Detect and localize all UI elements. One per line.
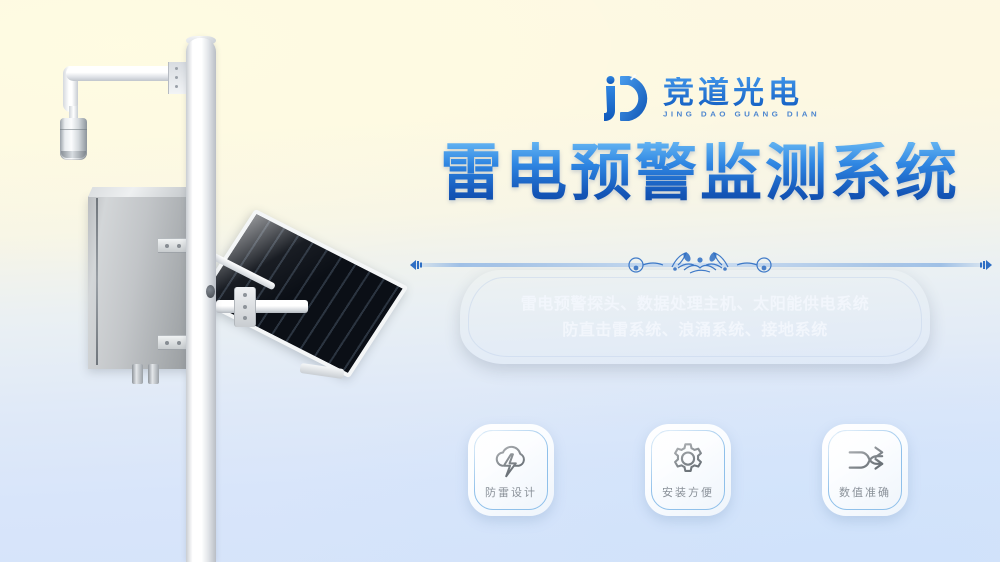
brand-name-cn: 竞道光电 <box>663 77 820 108</box>
feature-card-easy-installation[interactable]: 安装方便 <box>645 424 731 516</box>
brand-logo: 竞道光电 JING DAO GUANG DIAN <box>600 70 820 126</box>
content-column: 竞道光电 JING DAO GUANG DIAN 雷电预警监测系统 <box>400 0 1000 562</box>
description-line-2: 防直击雷系统、浪涌系统、接地系统 <box>460 318 930 344</box>
feature-card-lightning-protection[interactable]: 防雷设计 <box>468 424 554 516</box>
cloud-lightning-icon <box>468 438 554 482</box>
solar-mount-arm <box>216 300 308 313</box>
feature-label: 安装方便 <box>645 484 731 500</box>
jd-monogram-logo <box>600 70 654 126</box>
feature-label: 数值准确 <box>822 484 908 500</box>
arrow-cap-right-icon <box>978 258 994 272</box>
brand-name-en: JING DAO GUANG DIAN <box>663 110 820 118</box>
cabinet-door-seam <box>96 198 98 365</box>
gear-icon <box>645 438 731 482</box>
cable-gland-left <box>132 364 143 384</box>
product-photo <box>0 0 390 562</box>
mast-pole <box>186 38 216 562</box>
feature-cards: 防雷设计 安装方便 <box>458 424 948 524</box>
page-title: 雷电预警监测系统 <box>400 142 1000 207</box>
description-panel: 雷电预警探头、数据处理主机、太阳能供电系统 防直击雷系统、浪涌系统、接地系统 <box>460 270 930 364</box>
description-text: 雷电预警探头、数据处理主机、太阳能供电系统 防直击雷系统、浪涌系统、接地系统 <box>460 292 930 344</box>
description-line-1: 雷电预警探头、数据处理主机、太阳能供电系统 <box>460 292 930 318</box>
feature-card-accurate-data[interactable]: 数值准确 <box>822 424 908 516</box>
solar-panel <box>196 209 408 378</box>
feature-label: 防雷设计 <box>468 484 554 500</box>
solar-panel-glare <box>202 214 403 373</box>
solar-mount-clamp <box>234 287 256 327</box>
arrow-cap-left-icon <box>408 258 424 272</box>
cable-gland-right <box>148 364 159 384</box>
lightning-sensor-probe <box>60 118 87 160</box>
brand-wordmark: 竞道光电 JING DAO GUANG DIAN <box>663 77 820 119</box>
poster-canvas: 竞道光电 JING DAO GUANG DIAN 雷电预警监测系统 <box>0 0 1000 562</box>
shuffle-arrows-icon <box>822 438 908 482</box>
mast-cable-port <box>206 285 215 298</box>
